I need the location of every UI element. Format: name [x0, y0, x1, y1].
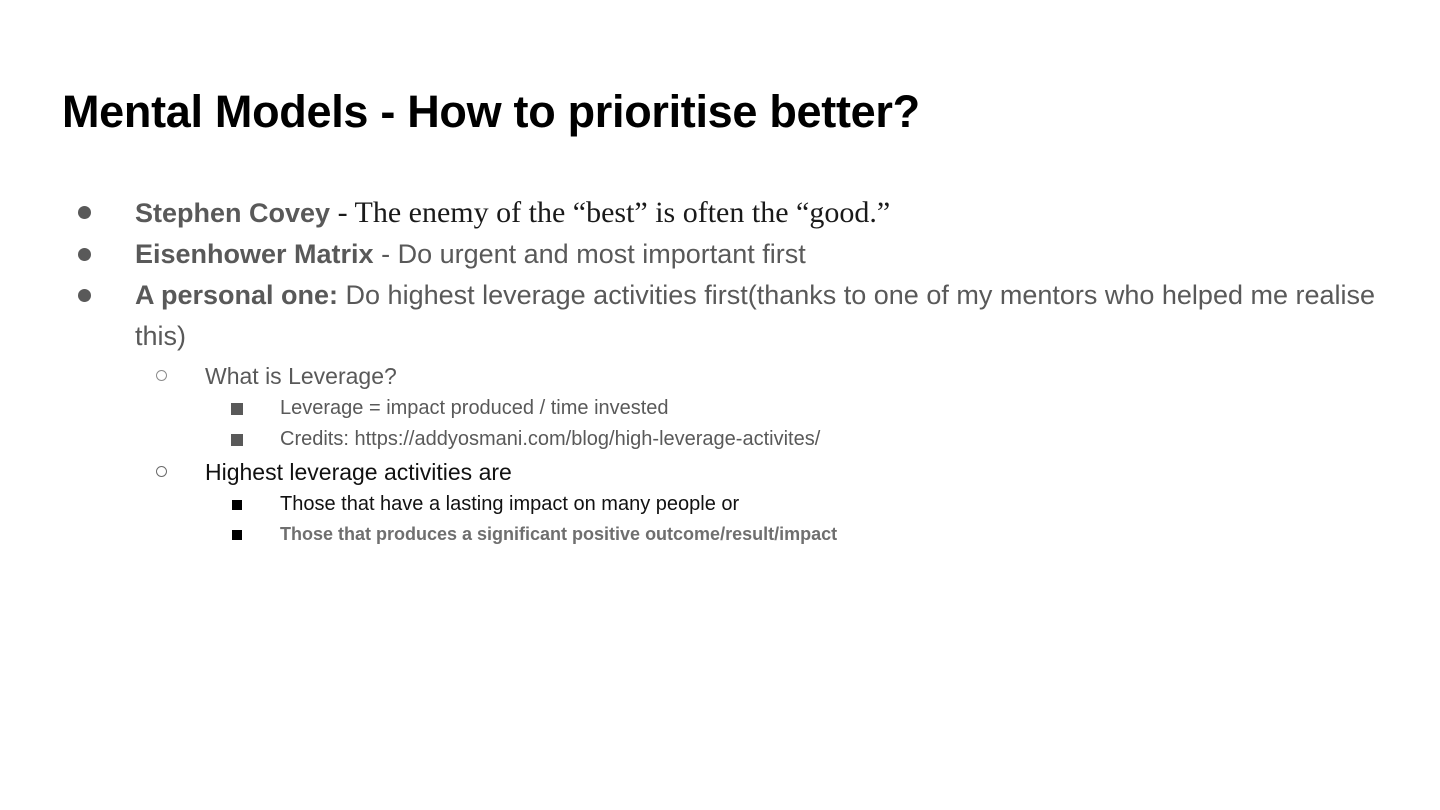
list-item-text: Those that have a lasting impact on many…	[280, 493, 739, 515]
bullet-filled-circle-icon	[78, 248, 91, 261]
page-title: Mental Models - How to prioritise better…	[62, 84, 1382, 140]
list-item: Highest leverage activities are	[0, 455, 1380, 489]
list-item: Stephen Covey - The enemy of the “best” …	[0, 192, 1380, 234]
bullet-hollow-circle-icon	[156, 466, 167, 477]
bullet-filled-circle-icon	[78, 206, 91, 219]
list-item: What is Leverage?	[0, 359, 1380, 393]
bullet-filled-square-icon	[232, 530, 242, 540]
list-item: Eisenhower Matrix - Do urgent and most i…	[0, 234, 1380, 275]
list-item: A personal one: Do highest leverage acti…	[0, 275, 1380, 357]
list-item-text: Leverage = impact produced / time invest…	[280, 397, 669, 419]
bullet-filled-circle-icon	[78, 289, 91, 302]
list-item: Those that have a lasting impact on many…	[0, 489, 1380, 520]
credits-link-text[interactable]: Credits: https://addyosmani.com/blog/hig…	[280, 428, 820, 450]
bullet-hollow-circle-icon	[156, 370, 167, 381]
list-item-lead: Stephen Covey	[135, 198, 330, 228]
list-item-text: Highest leverage activities are	[205, 459, 512, 485]
bullet-list: Stephen Covey - The enemy of the “best” …	[0, 192, 1380, 549]
list-item-credits: Credits: https://addyosmani.com/blog/hig…	[0, 424, 1380, 455]
list-item-text: Those that produces a significant positi…	[280, 524, 837, 544]
slide-canvas: Mental Models - How to prioritise better…	[0, 0, 1440, 810]
list-item: Those that produces a significant positi…	[0, 520, 1380, 549]
list-item-text: What is Leverage?	[205, 363, 397, 389]
list-item-lead: A personal one:	[135, 280, 338, 310]
bullet-filled-square-icon	[231, 403, 243, 415]
list-item: Leverage = impact produced / time invest…	[0, 393, 1380, 424]
list-item-text: - The enemy of the “best” is often the “…	[330, 196, 890, 229]
bullet-filled-square-icon	[232, 500, 242, 510]
list-item-lead: Eisenhower Matrix	[135, 239, 374, 269]
list-item-text: - Do urgent and most important first	[374, 239, 806, 269]
bullet-filled-square-icon	[231, 434, 243, 446]
